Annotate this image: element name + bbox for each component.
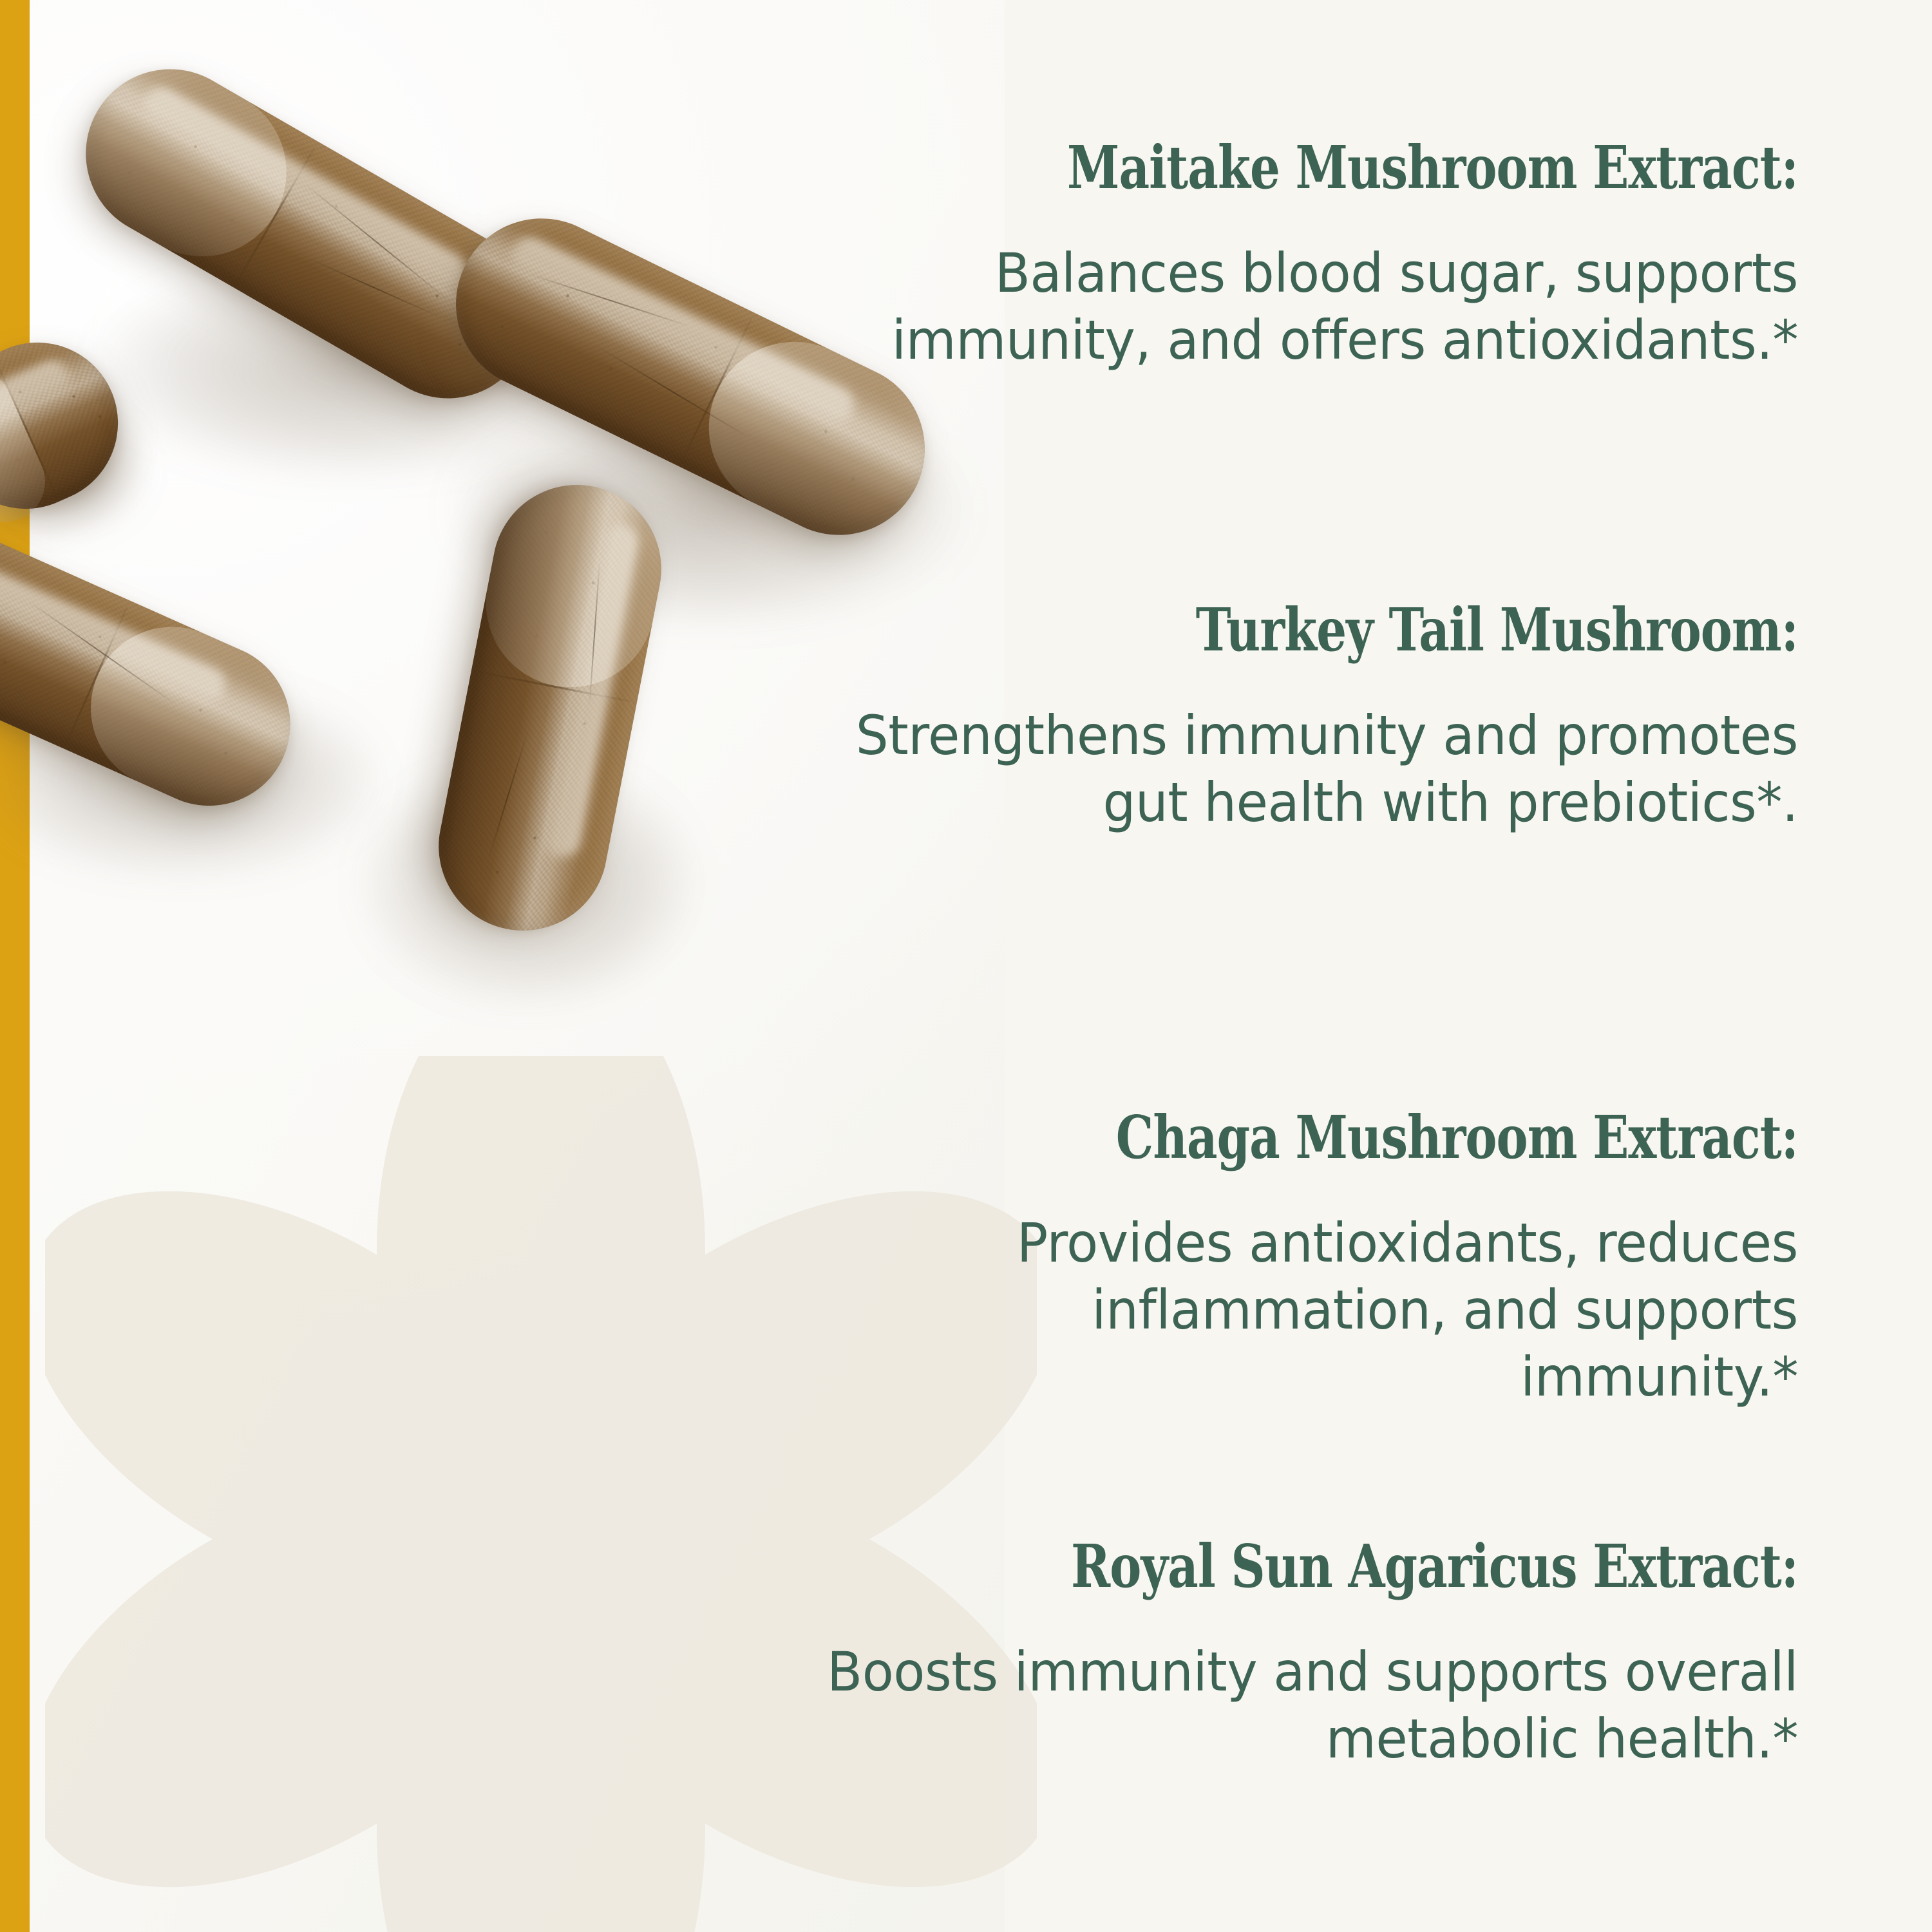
capsule-seam bbox=[0, 360, 57, 496]
ingredient-description: Strengthens immunity and promotes gut he… bbox=[807, 702, 1798, 836]
capsule-gloss bbox=[0, 538, 231, 707]
ingredient-description: Provides antioxidants, reduces inflammat… bbox=[807, 1209, 1798, 1410]
capsule-cap-half bbox=[65, 601, 316, 831]
capsule-crack bbox=[305, 184, 450, 301]
supplement-capsule bbox=[0, 317, 144, 535]
capsule-gloss bbox=[542, 522, 641, 860]
ingredient-title: Chaga Mushroom Extract: bbox=[967, 1106, 1798, 1170]
capsule-cap-half bbox=[55, 39, 317, 287]
capsule-seam bbox=[66, 606, 128, 743]
capsule-gloss bbox=[0, 354, 75, 438]
supplement-capsule bbox=[0, 500, 316, 832]
infographic-canvas: Maitake Mushroom Extract: Balances blood… bbox=[0, 0, 1932, 1932]
capsule-crack bbox=[529, 273, 692, 327]
ingredient-list: Maitake Mushroom Extract: Balances blood… bbox=[760, 0, 1798, 1932]
ingredient-section: Turkey Tail Mushroom: Strengthens immuni… bbox=[760, 599, 1798, 836]
capsule-cap-half bbox=[471, 470, 676, 701]
supplement-capsule bbox=[424, 470, 676, 945]
ingredient-title: Royal Sun Agaricus Extract: bbox=[967, 1535, 1798, 1598]
gold-accent-bar bbox=[0, 0, 30, 1932]
capsule-gloss bbox=[137, 80, 473, 295]
capsule-seam bbox=[681, 318, 752, 460]
capsule-crack bbox=[488, 731, 528, 860]
ingredient-description: Balances blood sugar, supports immunity,… bbox=[807, 240, 1798, 374]
capsule-seam bbox=[236, 147, 316, 282]
ingredient-description: Boosts immunity and supports overall met… bbox=[807, 1638, 1798, 1772]
ingredient-section: Royal Sun Agaricus Extract: Boosts immun… bbox=[760, 1535, 1798, 1772]
ingredient-title: Turkey Tail Mushroom: bbox=[967, 599, 1798, 662]
ingredient-title: Maitake Mushroom Extract: bbox=[967, 137, 1798, 200]
ingredient-section: Maitake Mushroom Extract: Balances blood… bbox=[760, 137, 1798, 374]
capsule-seam bbox=[478, 671, 630, 703]
capsule-crack bbox=[307, 257, 441, 318]
capsule-crack bbox=[28, 601, 177, 705]
capsule-crack bbox=[594, 345, 750, 439]
capsule-crack bbox=[589, 562, 601, 706]
ingredient-section: Chaga Mushroom Extract: Provides antioxi… bbox=[760, 1106, 1798, 1410]
